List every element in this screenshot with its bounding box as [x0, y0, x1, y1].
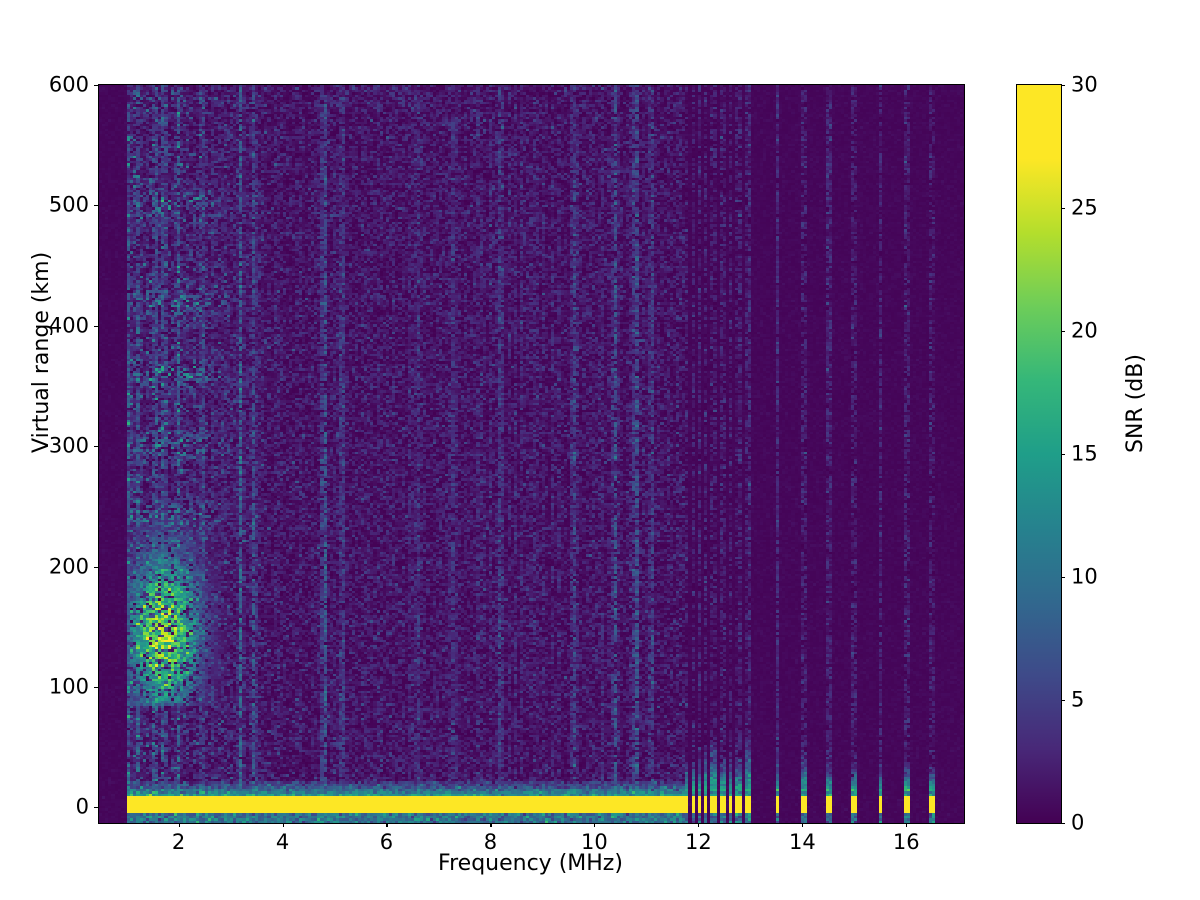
y-tick-mark-0: [94, 807, 98, 808]
y-tick-label-6: 600: [37, 75, 89, 96]
x-tick-label-6: 14: [789, 832, 816, 853]
x-tick-label-2: 6: [380, 832, 393, 853]
x-tick-mark-7: [906, 823, 907, 827]
x-tick-mark-0: [179, 823, 180, 827]
x-tick-mark-1: [283, 823, 284, 827]
x-axis-label: Frequency (MHz): [98, 852, 963, 876]
x-tick-mark-6: [802, 823, 803, 827]
x-tick-mark-4: [594, 823, 595, 827]
y-tick-mark-6: [94, 85, 98, 86]
colorbar-tick-label-0: 0: [1071, 813, 1084, 834]
colorbar-tick-label-3: 15: [1071, 444, 1098, 465]
y-tick-label-1: 100: [37, 676, 89, 697]
y-axis-label: Virtual range (km): [30, 252, 54, 453]
y-tick-mark-3: [94, 446, 98, 447]
x-tick-label-5: 12: [685, 832, 712, 853]
y-tick-mark-5: [94, 205, 98, 206]
colorbar: [1016, 84, 1062, 824]
x-tick-mark-3: [490, 823, 491, 827]
x-tick-mark-5: [698, 823, 699, 827]
x-tick-mark-2: [386, 823, 387, 827]
x-tick-label-7: 16: [893, 832, 920, 853]
colorbar-tick-label-5: 25: [1071, 198, 1098, 219]
colorbar-label: SNR (dB): [1124, 354, 1148, 453]
colorbar-tick-label-1: 5: [1071, 690, 1084, 711]
y-tick-mark-2: [94, 567, 98, 568]
y-tick-label-5: 500: [37, 195, 89, 216]
y-tick-label-0: 0: [37, 797, 89, 818]
x-tick-label-1: 4: [276, 832, 289, 853]
colorbar-tick-label-6: 30: [1071, 75, 1098, 96]
ionogram-heatmap: [99, 85, 964, 823]
x-tick-label-3: 8: [484, 832, 497, 853]
colorbar-gradient: [1017, 85, 1061, 823]
x-tick-label-0: 2: [172, 832, 185, 853]
x-tick-label-4: 10: [581, 832, 608, 853]
ionogram-axes: [98, 84, 965, 824]
colorbar-tick-label-4: 20: [1071, 321, 1098, 342]
y-tick-label-2: 200: [37, 556, 89, 577]
y-tick-mark-1: [94, 687, 98, 688]
ionogram-figure: IRF Uppsala SDR Ionosonde UP158 2026-04-…: [0, 0, 1200, 900]
colorbar-tick-label-2: 10: [1071, 567, 1098, 588]
y-tick-mark-4: [94, 326, 98, 327]
